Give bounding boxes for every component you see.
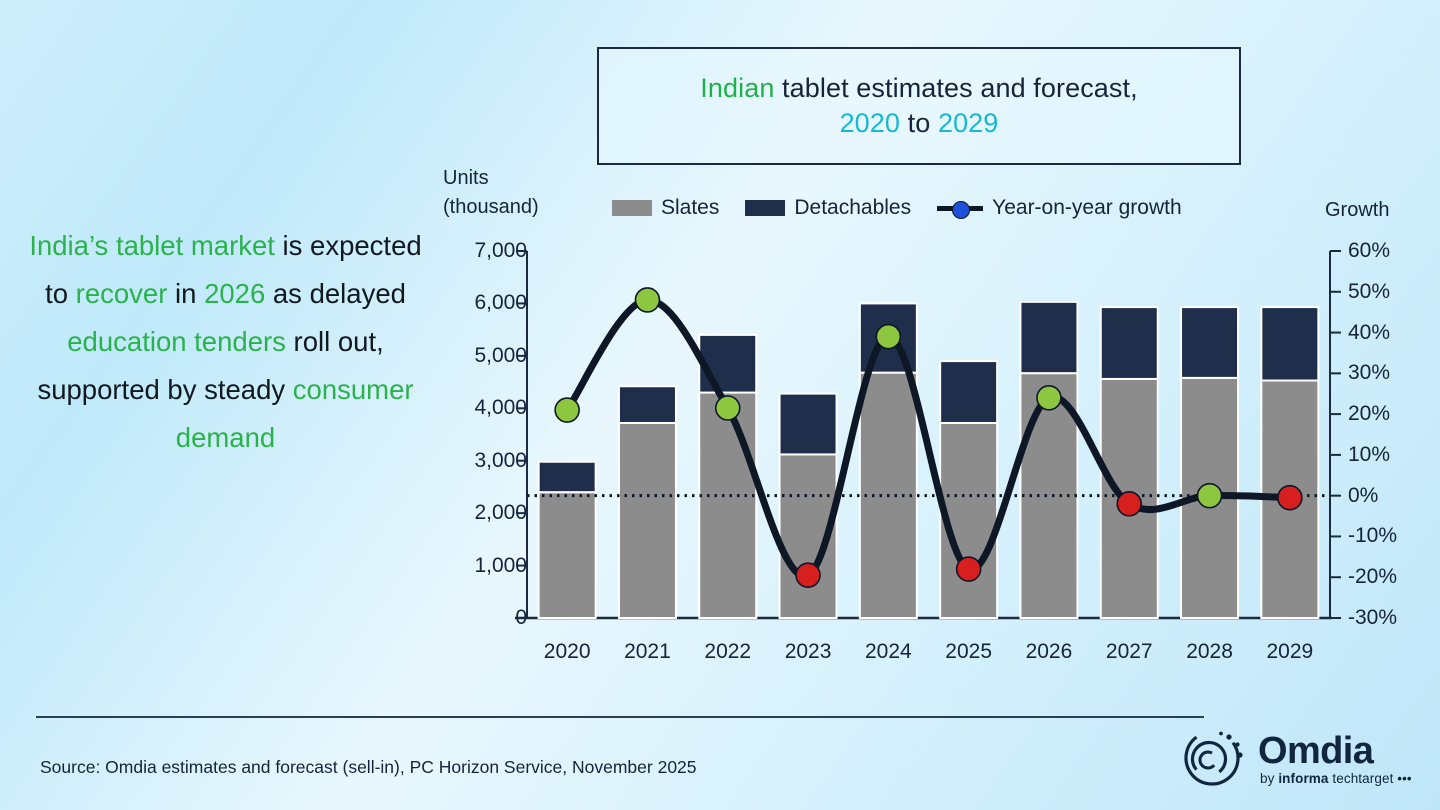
bar-segment-slates: [699, 393, 756, 618]
bar-group: [1261, 307, 1318, 618]
growth-marker-negative: [1278, 486, 1302, 510]
chart-title-box: Indian tablet estimates and forecast, 20…: [597, 47, 1241, 165]
bar-segment-slates: [940, 423, 997, 618]
bar-segment-slates: [539, 492, 596, 618]
y2-tick-label: 20%: [1348, 402, 1390, 426]
bar-segment-detachables: [619, 386, 676, 423]
bar-group: [940, 361, 997, 618]
y2-tick-label: 60%: [1348, 239, 1390, 263]
x-tick-label: 2023: [785, 640, 832, 664]
y-tick-label: 5,000: [437, 344, 527, 368]
bar-segment-detachables: [699, 335, 756, 393]
bar-group: [860, 303, 917, 618]
callout-phrase-1: India’s tablet market: [29, 230, 275, 261]
callout-phrase-3: recover: [76, 278, 168, 309]
growth-marker-positive: [555, 398, 579, 422]
callout-text: India’s tablet market is expected to rec…: [28, 222, 423, 462]
tagline-pre: by: [1260, 771, 1278, 786]
legend-label: Year-on-year growth: [992, 196, 1182, 220]
growth-marker-negative: [1117, 492, 1141, 516]
legend-item-slates: Slates: [612, 196, 719, 220]
y-tick-label: 2,000: [437, 501, 527, 525]
page-title: Indian tablet estimates and forecast, 20…: [700, 71, 1137, 141]
y2-tick-label: 40%: [1348, 321, 1390, 345]
callout-phrase-5: 2026: [204, 278, 265, 309]
legend-item-year-on-year-growth: Year-on-year growth: [937, 196, 1182, 220]
callout-phrase-6: as delayed: [265, 278, 406, 309]
y-tick-label: 4,000: [437, 396, 527, 420]
bar-group: [1101, 307, 1158, 618]
y-tick-label: 3,000: [437, 449, 527, 473]
omdia-tagline: by informa techtarget •••: [1260, 771, 1412, 786]
tagline-dots: •••: [1393, 771, 1411, 786]
bar-segment-detachables: [780, 394, 837, 455]
legend-swatch-icon: [745, 200, 785, 216]
legend-label: Detachables: [794, 196, 911, 220]
omdia-logo: Omdia by informa techtarget •••: [1178, 728, 1404, 790]
bar-segment-detachables: [1101, 307, 1158, 379]
legend-item-detachables: Detachables: [745, 196, 911, 220]
bar-segment-detachables: [940, 361, 997, 423]
bar-segment-detachables: [860, 303, 917, 372]
bar-segment-detachables: [539, 462, 596, 492]
legend-swatch-icon: [612, 200, 652, 216]
bar-segment-detachables: [1181, 307, 1238, 378]
title-year-end: 2029: [938, 108, 998, 138]
y2-tick-label: -20%: [1348, 565, 1397, 589]
footer-divider: [36, 716, 1204, 718]
x-tick-label: 2027: [1106, 640, 1153, 664]
callout-phrase-4: in: [167, 278, 204, 309]
title-country: Indian: [700, 73, 774, 103]
title-year-start: 2020: [840, 108, 900, 138]
x-tick-label: 2020: [544, 640, 591, 664]
growth-marker-negative: [957, 557, 981, 581]
title-main: tablet estimates and forecast,: [774, 73, 1137, 103]
y2-tick-label: 50%: [1348, 280, 1390, 304]
y2-tick-label: 30%: [1348, 361, 1390, 385]
y-tick-label: 0: [437, 606, 527, 630]
growth-marker-negative: [796, 563, 820, 587]
bar-segment-detachables: [1261, 307, 1318, 380]
callout-phrase-7: education tenders: [67, 326, 286, 357]
x-tick-label: 2029: [1266, 640, 1313, 664]
bar-segment-slates: [1020, 373, 1077, 618]
y2-tick-label: -10%: [1348, 524, 1397, 548]
x-tick-label: 2028: [1186, 640, 1233, 664]
y-tick-label: 7,000: [437, 239, 527, 263]
y2-tick-label: 0%: [1348, 484, 1378, 508]
x-tick-label: 2025: [945, 640, 992, 664]
bar-segment-slates: [1101, 379, 1158, 618]
growth-marker-positive: [1198, 484, 1222, 508]
bar-segment-slates: [1181, 378, 1238, 618]
omdia-wordmark: Omdia: [1258, 730, 1373, 773]
bar-segment-slates: [860, 373, 917, 618]
source-note: Source: Omdia estimates and forecast (se…: [40, 757, 697, 778]
x-axis-ticks: 2020202120222023202420252026202720282029: [0, 640, 1440, 670]
bar-group: [619, 386, 676, 618]
y2-axis-ticks: -30%-20%-10%0%10%20%30%40%50%60%: [1348, 0, 1440, 810]
legend-label: Slates: [661, 196, 719, 220]
y2-tick-label: 10%: [1348, 443, 1390, 467]
bar-group: [780, 394, 837, 618]
bar-segment-detachables: [1020, 302, 1077, 373]
bar-group: [539, 462, 596, 618]
x-tick-label: 2026: [1026, 640, 1073, 664]
bar-group: [699, 335, 756, 618]
x-tick-label: 2022: [704, 640, 751, 664]
omdia-swirl-icon: [1178, 728, 1250, 788]
bar-segment-slates: [780, 454, 837, 618]
growth-marker-positive: [1037, 386, 1061, 410]
growth-marker-positive: [716, 396, 740, 420]
bar-group: [1181, 307, 1238, 618]
tagline-informa: informa: [1278, 771, 1328, 786]
tagline-post: techtarget: [1329, 771, 1394, 786]
title-connector: to: [900, 108, 938, 138]
bar-segment-slates: [1261, 380, 1318, 618]
y-axis-ticks: 01,0002,0003,0004,0005,0006,0007,000: [437, 0, 527, 810]
bar-group: [1020, 302, 1077, 618]
chart-legend: SlatesDetachablesYear-on-year growth: [612, 196, 1182, 220]
y-tick-label: 6,000: [437, 291, 527, 315]
y2-tick-label: -30%: [1348, 606, 1397, 630]
growth-marker-positive: [876, 325, 900, 349]
y-tick-label: 1,000: [437, 554, 527, 578]
x-tick-label: 2021: [624, 640, 671, 664]
growth-line: [567, 300, 1290, 576]
growth-marker-positive: [635, 288, 659, 312]
legend-line-marker-icon: [937, 200, 983, 216]
x-tick-label: 2024: [865, 640, 912, 664]
bar-segment-slates: [619, 423, 676, 618]
